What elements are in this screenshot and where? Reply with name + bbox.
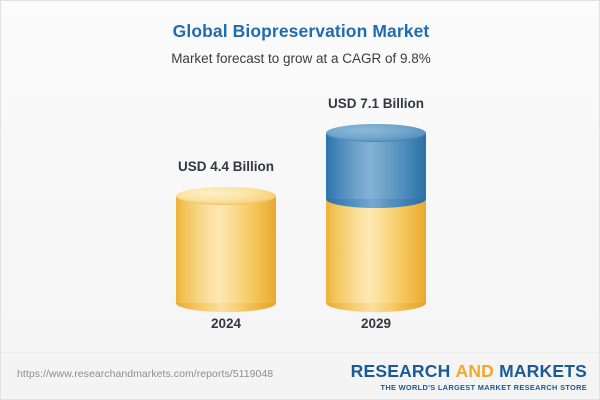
chart-card: Global Biopreservation Market Market for…: [0, 0, 600, 400]
bar-2024-top-cap: [176, 187, 276, 205]
bar-2029-body-upper[interactable]: [326, 133, 426, 199]
report-url[interactable]: https://www.researchandmarkets.com/repor…: [17, 368, 273, 380]
logo-tagline: THE WORLD'S LARGEST MARKET RESEARCH STOR…: [351, 383, 587, 392]
logo-wordmark: RESEARCH AND MARKETS: [351, 361, 587, 382]
research-and-markets-logo[interactable]: RESEARCH AND MARKETS THE WORLD'S LARGEST…: [351, 361, 587, 392]
chart-plot-area: USD 4.4 Billion 2024 USD 7.1 Billion 202…: [1, 1, 600, 346]
bar-2029-top-cap: [326, 124, 426, 142]
bar-2024-body[interactable]: [176, 196, 276, 303]
logo-word-research: RESEARCH: [351, 361, 451, 381]
bar-value-label-2029: USD 7.1 Billion: [296, 96, 456, 111]
bar-category-label-2029: 2029: [296, 316, 456, 331]
bar-value-label-2024: USD 4.4 Billion: [146, 159, 306, 174]
bar-category-label-2024: 2024: [146, 316, 306, 331]
bar-2029-body-lower[interactable]: [326, 199, 426, 303]
logo-word-and: AND: [455, 361, 494, 381]
chart-footer: https://www.researchandmarkets.com/repor…: [1, 353, 600, 400]
logo-word-markets: MARKETS: [499, 361, 587, 381]
